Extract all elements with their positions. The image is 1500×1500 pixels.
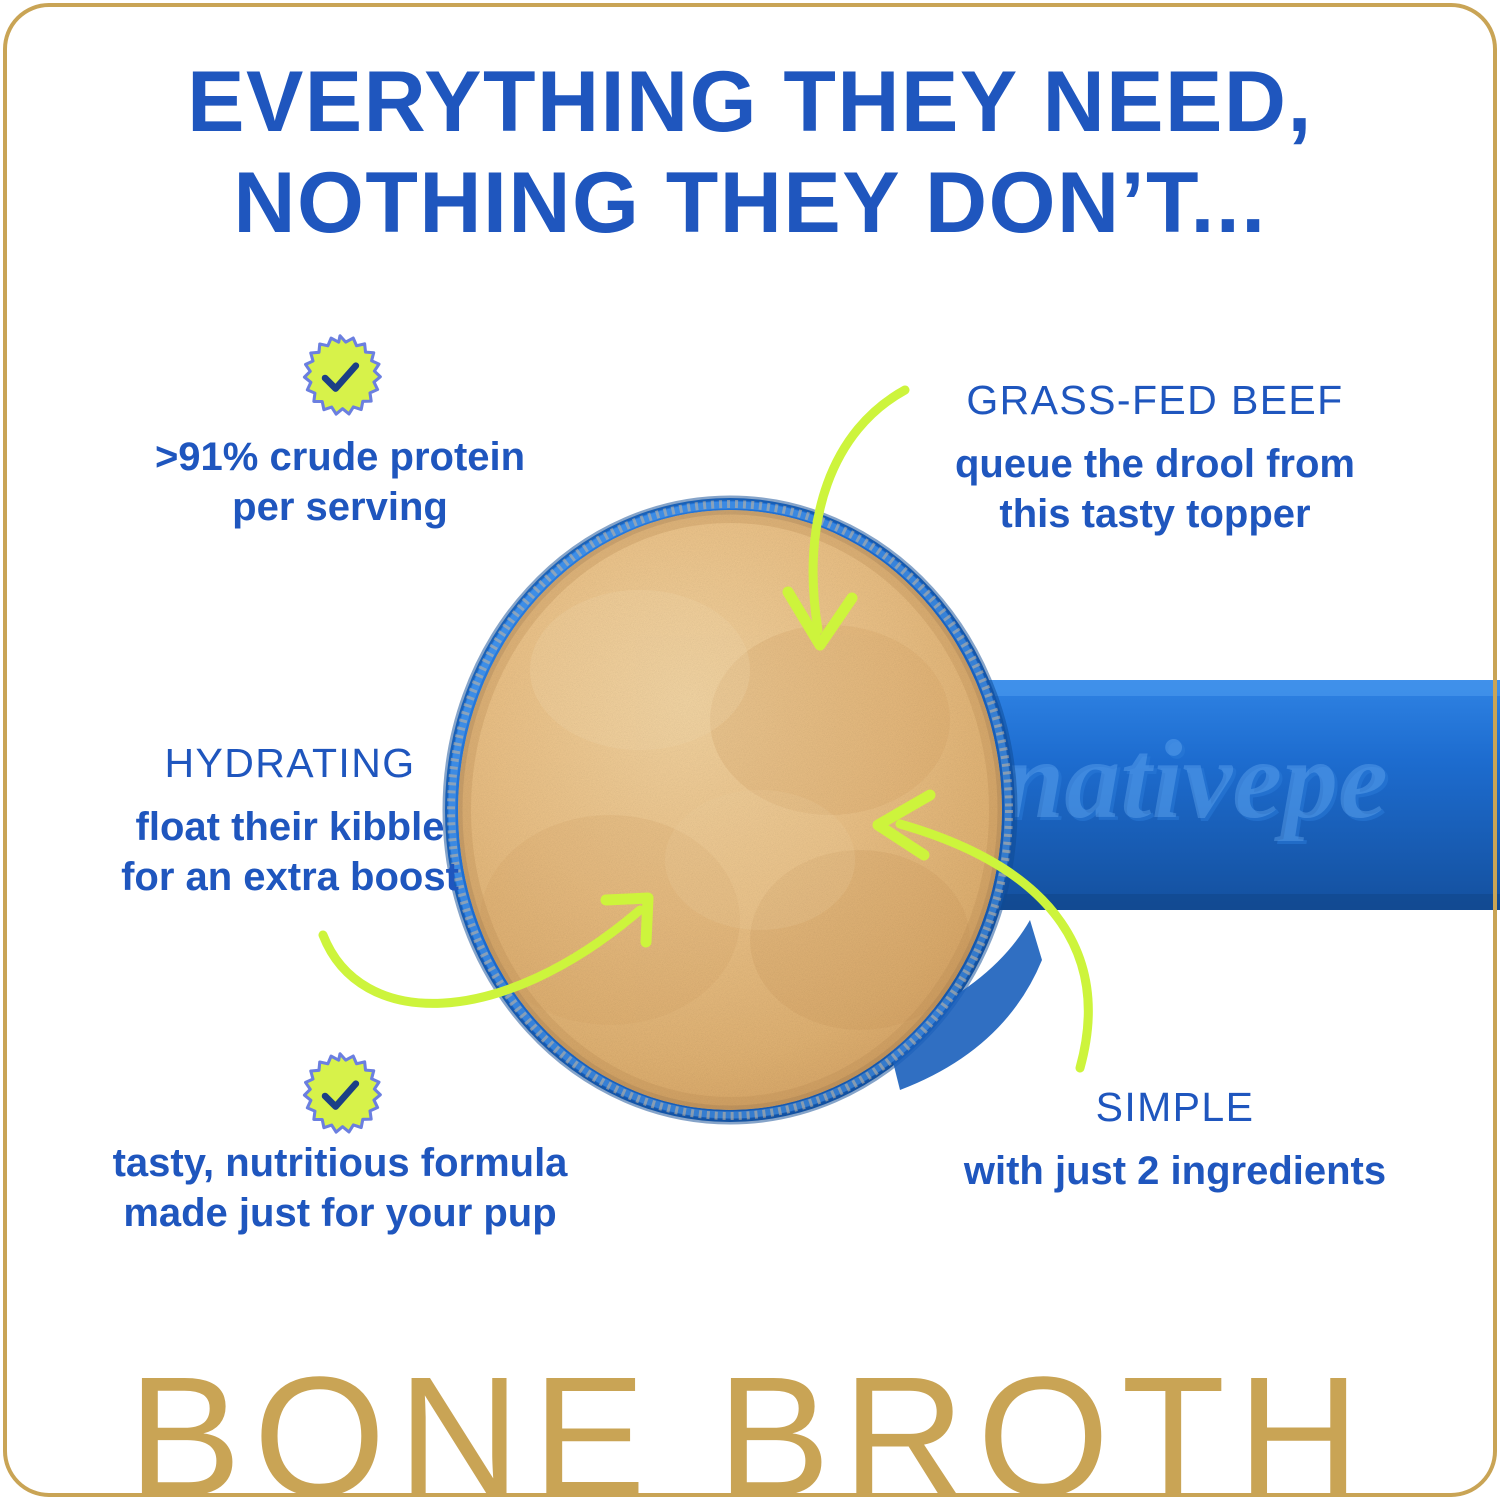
callout-hydrating: HYDRATING float their kibble for an extr… <box>60 738 520 903</box>
bone-broth-wordmark: BONE BROTH <box>0 1352 1500 1500</box>
callout-grass-fed-beef: GRASS-FED BEEF queue the drool from this… <box>905 375 1405 540</box>
product-infographic: nativepe nativepe <box>0 0 1500 1500</box>
check-seal-icon-protein <box>296 334 384 422</box>
callout-hydrating-body: float their kibble for an extra boost <box>60 802 520 903</box>
powder-fill <box>458 510 1002 1110</box>
handle-emboss-highlight: nativepe <box>1002 718 1388 842</box>
check-seal-icon-tasty <box>296 1052 384 1140</box>
starburst-badge <box>304 1054 380 1132</box>
scoop-handle: nativepe nativepe <box>950 680 1500 910</box>
callout-tasty-body: tasty, nutritious formula made just for … <box>80 1138 600 1239</box>
callout-simple-eyebrow: SIMPLE <box>940 1082 1410 1132</box>
starburst-badge <box>304 336 380 414</box>
callout-protein: >91% crude protein per serving <box>90 432 590 533</box>
callout-tasty: tasty, nutritious formula made just for … <box>80 1138 600 1239</box>
scoop-illustration: nativepe nativepe <box>430 490 1500 1130</box>
page-title: EVERYTHING THEY NEED, NOTHING THEY DON’T… <box>0 52 1500 255</box>
callout-grass-fed-beef-body: queue the drool from this tasty topper <box>905 439 1405 540</box>
product-photo-scoop: nativepe nativepe <box>430 490 1500 1130</box>
callout-simple-body: with just 2 ingredients <box>940 1146 1410 1196</box>
callout-hydrating-eyebrow: HYDRATING <box>60 738 520 788</box>
callout-grass-fed-beef-eyebrow: GRASS-FED BEEF <box>905 375 1405 425</box>
callout-simple: SIMPLE with just 2 ingredients <box>940 1082 1410 1196</box>
callout-protein-body: >91% crude protein per serving <box>90 432 590 533</box>
